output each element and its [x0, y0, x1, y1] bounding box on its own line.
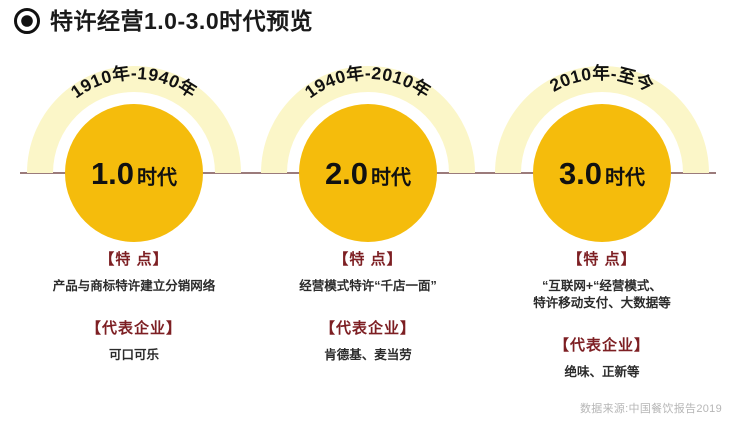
company-heading-2: 【代表企业】 [251, 317, 485, 338]
era-graphic-3: 2010年-至今 3.0时代 [485, 60, 719, 235]
feature-body-2: 经营模式特许“千店一面” [251, 278, 485, 295]
company-body-1: 可口可乐 [17, 347, 251, 364]
era-disc-label-1: 1.0时代 [91, 158, 177, 189]
era-block-2: 1940年-2010年 2.0时代 【特 点】 经营模式特许“千店一面” 【代表… [251, 60, 485, 400]
era-word-2: 时代 [371, 167, 411, 189]
era-block-3: 2010年-至今 3.0时代 【特 点】 “互联网+“经营模式、 特许移动支付、… [485, 60, 719, 400]
feature-heading-2: 【特 点】 [251, 248, 485, 269]
era-list: 1910年-1940年 1.0时代 【特 点】 产品与商标特许建立分销网络 【代… [0, 0, 740, 428]
era-disc-label-3: 3.0时代 [559, 158, 645, 189]
feature-body-3: “互联网+“经营模式、 特许移动支付、大数据等 [485, 278, 719, 312]
era-word-3: 时代 [605, 167, 645, 189]
era-graphic-1: 1910年-1940年 1.0时代 [17, 60, 251, 235]
company-body-2: 肯德基、麦当劳 [251, 347, 485, 364]
feature-body-1: 产品与商标特许建立分销网络 [17, 278, 251, 295]
era-graphic-2: 1940年-2010年 2.0时代 [251, 60, 485, 235]
era-disc-2: 2.0时代 [299, 104, 437, 242]
source-note: 数据来源:中国餐饮报告2019 [580, 400, 722, 416]
era-number-2: 2.0 [325, 156, 368, 191]
feature-heading-1: 【特 点】 [17, 248, 251, 269]
era-number-1: 1.0 [91, 156, 134, 191]
company-heading-3: 【代表企业】 [485, 334, 719, 355]
era-text-3: 【特 点】 “互联网+“经营模式、 特许移动支付、大数据等 【代表企业】 绝味、… [485, 248, 719, 381]
company-heading-1: 【代表企业】 [17, 317, 251, 338]
era-text-1: 【特 点】 产品与商标特许建立分销网络 【代表企业】 可口可乐 [17, 248, 251, 364]
era-block-1: 1910年-1940年 1.0时代 【特 点】 产品与商标特许建立分销网络 【代… [17, 60, 251, 400]
era-text-2: 【特 点】 经营模式特许“千店一面” 【代表企业】 肯德基、麦当劳 [251, 248, 485, 364]
era-disc-label-2: 2.0时代 [325, 158, 411, 189]
era-disc-1: 1.0时代 [65, 104, 203, 242]
era-number-3: 3.0 [559, 156, 602, 191]
company-body-3: 绝味、正新等 [485, 364, 719, 381]
feature-heading-3: 【特 点】 [485, 248, 719, 269]
era-word-1: 时代 [137, 167, 177, 189]
era-disc-3: 3.0时代 [533, 104, 671, 242]
